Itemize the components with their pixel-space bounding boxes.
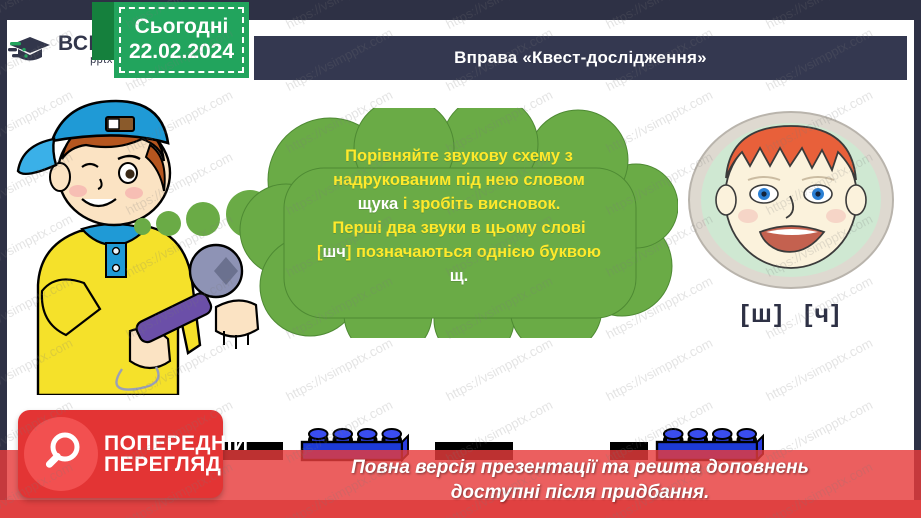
graduation-cap-icon [8, 31, 54, 67]
thought-bubble-line-1: Порівняйте звукову схему з [268, 145, 650, 169]
thought-dot-1 [134, 218, 151, 235]
footer-line-2: доступні після придбання. [280, 480, 880, 505]
thought-bubble-line-2: надрукованим під нею словом [268, 169, 650, 193]
thought-bubble-line-5: [шч] позначаються однією буквою [268, 241, 650, 265]
phoneme-row: [ш][ч] [686, 300, 896, 329]
thought-dot-2 [156, 211, 181, 236]
preview-line-2: ПЕРЕГЛЯД [104, 454, 249, 475]
magnifier-icon [24, 417, 98, 491]
slide-root: ВСІМ pptx Сьогодні 22.02.2024 Вправа «Кв… [0, 0, 921, 518]
thought-dot-3 [186, 202, 220, 236]
preview-badge-label: ПОПЕРЕДНІЙ ПЕРЕГЛЯД [104, 433, 249, 476]
thought-bubble-line-4: Перші два звуки в цьому слові [268, 217, 650, 241]
thought-bubble-line-3: щука і зробіть висновок. [268, 193, 650, 217]
preview-line-1: ПОПЕРЕДНІЙ [104, 433, 249, 454]
footer-line-1: Повна версія презентації та решта доповн… [280, 455, 880, 480]
phoneme-2: [ч] [804, 300, 841, 329]
right-dark-band [914, 0, 921, 518]
slide-title: Вправа «Квест-дослідження» [454, 48, 707, 68]
footer-text: Повна версія презентації та решта доповн… [280, 455, 880, 505]
thought-bubble-line-6: щ. [268, 265, 650, 289]
date-badge: Сьогодні 22.02.2024 [114, 2, 249, 78]
left-dark-band [0, 0, 7, 518]
date-badge-label: Сьогодні [135, 15, 229, 40]
smiling-boy-face-icon [686, 108, 896, 293]
boy-with-microphone-illustration [10, 95, 260, 395]
phoneme-1: [ш] [741, 300, 785, 329]
slide-title-bar: Вправа «Квест-дослідження» [252, 34, 909, 82]
preview-badge[interactable]: ПОПЕРЕДНІЙ ПЕРЕГЛЯД [18, 410, 223, 498]
date-badge-value: 22.02.2024 [129, 40, 234, 65]
thought-bubble-text: Порівняйте звукову схему знадрукованим п… [268, 145, 650, 289]
